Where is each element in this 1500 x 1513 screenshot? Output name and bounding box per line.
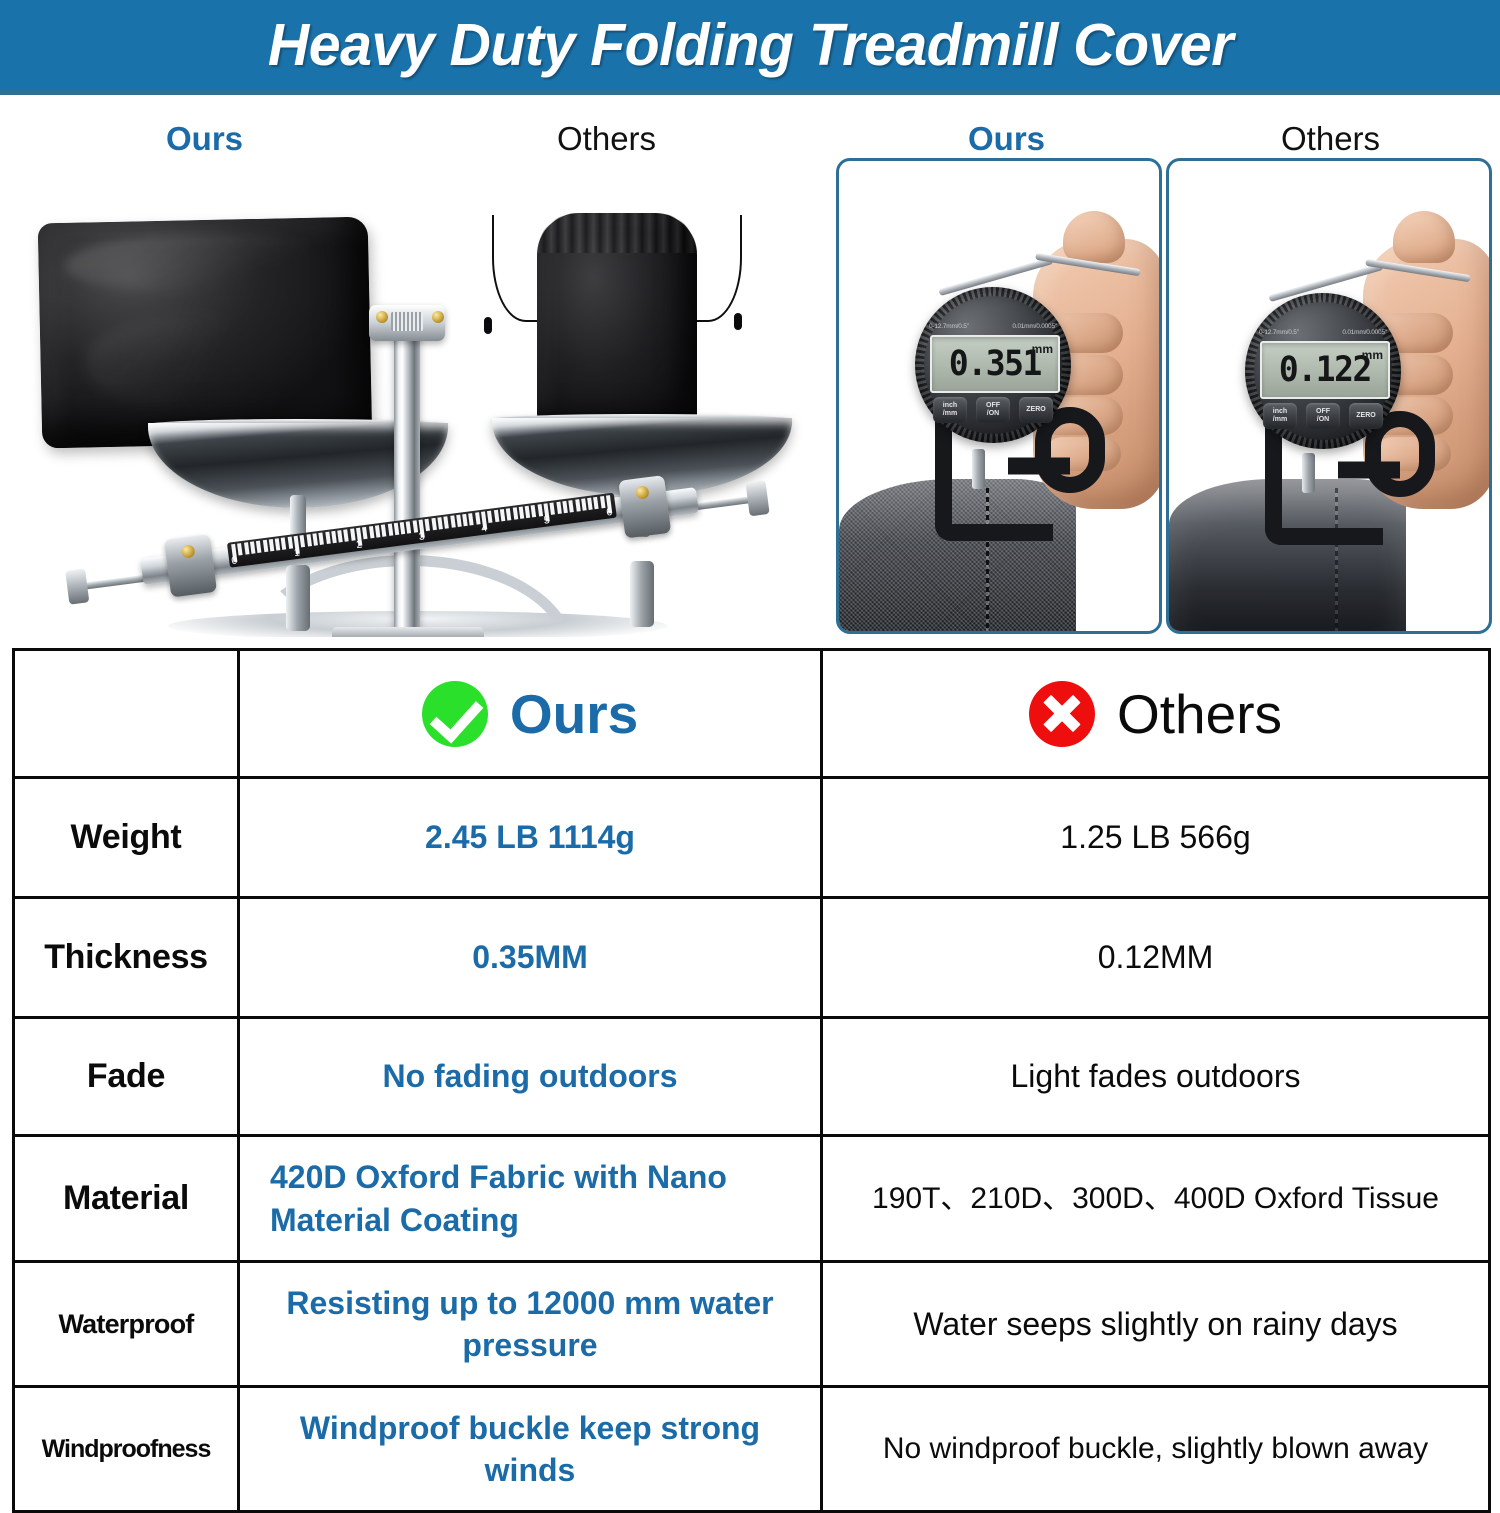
thumb bbox=[1063, 211, 1125, 263]
folded-treadmill-cover-image bbox=[38, 217, 373, 449]
gauge-button-off-on[interactable]: OFF /ON bbox=[976, 397, 1010, 423]
weight-comparison-photo: 0123456 bbox=[18, 165, 818, 637]
ruler-tick bbox=[275, 538, 281, 550]
ruler-tick bbox=[237, 543, 243, 555]
row-ours-weight: 2.45 LB 1114g bbox=[425, 819, 635, 855]
ruler-tick bbox=[306, 534, 312, 546]
pouch-gathered-top bbox=[537, 213, 697, 253]
row-label-windproofness-cell: Windproofness bbox=[14, 1387, 239, 1512]
ruler-tick bbox=[568, 500, 574, 512]
gauge-button-off-on-others-line2: /ON bbox=[1317, 416, 1329, 424]
gauge-button-zero-others-label: ZERO bbox=[1356, 412, 1375, 420]
ruler-tick bbox=[531, 505, 537, 517]
row-others-material-cell: 190T、210D、300D、400D Oxford Tissue bbox=[822, 1136, 1490, 1262]
ruler-tick bbox=[575, 499, 581, 511]
gauge-button-off-on-others-line1: OFF bbox=[1316, 408, 1330, 416]
weight-photo-label-ours: Ours bbox=[166, 120, 243, 158]
ruler-tick bbox=[450, 515, 456, 527]
gauge-button-inch-mm-others[interactable]: inch /mm bbox=[1263, 403, 1297, 429]
row-label-thickness-cell: Thickness bbox=[14, 898, 239, 1018]
gauge-button-inch-mm[interactable]: inch /mm bbox=[933, 397, 967, 423]
ruler-tick bbox=[456, 515, 462, 527]
gauge-measuring-anvil-others bbox=[1302, 453, 1315, 493]
ruler-tick bbox=[537, 504, 543, 516]
weight-photo-label-others: Others bbox=[557, 120, 656, 158]
row-others-fade: Light fades outdoors bbox=[1011, 1058, 1301, 1094]
table-row: Waterproof Resisting up to 12000 mm wate… bbox=[14, 1262, 1490, 1387]
row-others-windproofness-cell: No windproof buckle, slightly blown away bbox=[822, 1387, 1490, 1512]
ruler-tick bbox=[350, 528, 356, 540]
ruler-tick bbox=[262, 540, 268, 552]
ruler-tick bbox=[287, 537, 293, 549]
gauge-lcd-display-others: 0.122 mm bbox=[1260, 341, 1390, 399]
gauge-spec-row-others: 0-12.7mm/0.5" 0.01mm/0.0005" bbox=[1259, 329, 1387, 336]
ruler-tick bbox=[250, 541, 256, 553]
gauge-button-off-on-line1: OFF bbox=[986, 402, 1000, 410]
thickness-photo-label-ours: Ours bbox=[968, 120, 1045, 158]
ruler-tick bbox=[344, 529, 350, 541]
row-ours-material-cell: 420D Oxford Fabric with Nano Material Co… bbox=[239, 1136, 822, 1262]
ruler-tick bbox=[406, 521, 412, 533]
ruler-tick bbox=[412, 520, 418, 532]
ruler-tick bbox=[556, 502, 562, 514]
gauge-button-off-on-line2: /ON bbox=[987, 410, 999, 418]
row-others-thickness-cell: 0.12MM bbox=[822, 898, 1490, 1018]
digital-thickness-gauge-ours: 0-12.7mm/0.5" 0.01mm/0.0005" 0.351 mm in… bbox=[915, 287, 1071, 443]
row-others-weight: 1.25 LB 566g bbox=[1060, 819, 1250, 855]
row-others-thickness: 0.12MM bbox=[1098, 939, 1214, 975]
ruler-tick bbox=[431, 518, 437, 530]
table-header-blank-cell bbox=[14, 650, 239, 778]
ruler-tick bbox=[394, 523, 400, 535]
table-row: Thickness 0.35MM 0.12MM bbox=[14, 898, 1490, 1018]
row-label-weight-cell: Weight bbox=[14, 778, 239, 898]
row-ours-fade: No fading outdoors bbox=[382, 1058, 677, 1094]
gauge-spec-row: 0-12.7mm/0.5" 0.01mm/0.0005" bbox=[929, 323, 1057, 330]
thickness-photo-others: 0-12.7mm/0.5" 0.01mm/0.0005" 0.122 mm in… bbox=[1166, 158, 1492, 634]
gauge-button-zero[interactable]: ZERO bbox=[1019, 397, 1053, 423]
ruler-tick bbox=[475, 512, 481, 524]
gauge-reading-ours: 0.351 bbox=[949, 347, 1041, 382]
row-others-material: 190T、210D、300D、400D Oxford Tissue bbox=[872, 1182, 1439, 1215]
beam-thumb-nut-left bbox=[65, 568, 89, 604]
ruler-tick bbox=[437, 517, 443, 529]
ruler-tick bbox=[400, 522, 406, 534]
drawstring-tip-right bbox=[734, 313, 742, 330]
comparison-table: Ours Others Weight 2.45 LB 1114g 1.25 LB… bbox=[12, 648, 1491, 1513]
row-ours-windproofness: Windproof buckle keep strong winds bbox=[300, 1410, 760, 1488]
row-others-waterproof-cell: Water seeps slightly on rainy days bbox=[822, 1262, 1490, 1387]
ruler-tick bbox=[362, 527, 368, 539]
row-others-waterproof: Water seeps slightly on rainy days bbox=[913, 1306, 1397, 1342]
gauge-unit-ours: mm bbox=[1032, 342, 1053, 356]
row-label-material-cell: Material bbox=[14, 1136, 239, 1262]
table-row: Fade No fading outdoors Light fades outd… bbox=[14, 1018, 1490, 1136]
thickness-photo-ours: 0-12.7mm/0.5" 0.01mm/0.0005" 0.351 mm in… bbox=[836, 158, 1162, 634]
ruler-tick bbox=[281, 537, 287, 549]
ruler-tick bbox=[269, 539, 275, 551]
row-label-waterproof-cell: Waterproof bbox=[14, 1262, 239, 1387]
table-header-ours-label: Ours bbox=[510, 682, 638, 746]
ruler-tick bbox=[500, 509, 506, 521]
row-ours-thickness-cell: 0.35MM bbox=[239, 898, 822, 1018]
table-row: Windproofness Windproof buckle keep stro… bbox=[14, 1387, 1490, 1512]
table-row: Material 420D Oxford Fabric with Nano Ma… bbox=[14, 1136, 1490, 1262]
gauge-spec-range-others: 0-12.7mm/0.5" bbox=[1259, 329, 1299, 336]
beam-knob-screw-right bbox=[635, 485, 650, 500]
ruler-tick bbox=[462, 514, 468, 526]
gauge-button-inch-mm-others-line1: inch bbox=[1273, 408, 1287, 416]
drawstring-tip-left bbox=[484, 317, 492, 334]
ruler-tick bbox=[487, 511, 493, 523]
gauge-unit-others: mm bbox=[1362, 348, 1383, 362]
row-ours-weight-cell: 2.45 LB 1114g bbox=[239, 778, 822, 898]
gauge-spec-resolution-others: 0.01mm/0.0005" bbox=[1342, 329, 1387, 336]
row-ours-thickness: 0.35MM bbox=[472, 939, 588, 975]
ruler-tick bbox=[581, 498, 587, 510]
scale-leg-right bbox=[630, 561, 654, 627]
row-ours-waterproof-cell: Resisting up to 12000 mm water pressure bbox=[239, 1262, 822, 1387]
row-ours-material: 420D Oxford Fabric with Nano Material Co… bbox=[270, 1159, 727, 1237]
row-label-windproofness: Windproofness bbox=[42, 1435, 211, 1463]
table-header-others-label: Others bbox=[1117, 682, 1282, 746]
ruler-tick bbox=[587, 498, 593, 510]
scale-base-foot bbox=[332, 627, 484, 637]
green-check-circle-icon bbox=[422, 681, 488, 747]
ruler-tick bbox=[600, 496, 606, 508]
row-label-waterproof: Waterproof bbox=[59, 1309, 194, 1339]
ruler-tick bbox=[331, 531, 337, 543]
ruler-tick bbox=[381, 524, 387, 536]
row-others-fade-cell: Light fades outdoors bbox=[822, 1018, 1490, 1136]
row-ours-fade-cell: No fading outdoors bbox=[239, 1018, 822, 1136]
ruler-tick bbox=[444, 516, 450, 528]
gauge-button-zero-label: ZERO bbox=[1026, 406, 1045, 414]
ruler-tick bbox=[494, 510, 500, 522]
ruler-tick bbox=[562, 501, 568, 513]
gauge-spec-resolution: 0.01mm/0.0005" bbox=[1012, 323, 1057, 330]
page-header-banner: Heavy Duty Folding Treadmill Cover bbox=[0, 0, 1500, 95]
ruler-tick bbox=[593, 497, 599, 509]
ruler-tick bbox=[550, 502, 556, 514]
table-header-row: Ours Others bbox=[14, 650, 1490, 778]
ruler-tick bbox=[525, 506, 531, 518]
gauge-button-inch-mm-line2: /mm bbox=[943, 410, 957, 418]
ruler-tick bbox=[369, 526, 375, 538]
gauge-reading-others: 0.122 bbox=[1279, 353, 1371, 388]
ruler-tick bbox=[325, 532, 331, 544]
table-row: Weight 2.45 LB 1114g 1.25 LB 566g bbox=[14, 778, 1490, 898]
row-label-fade: Fade bbox=[87, 1057, 165, 1095]
gauge-button-inch-mm-others-line2: /mm bbox=[1273, 416, 1287, 424]
gauge-measuring-anvil bbox=[972, 449, 985, 489]
row-label-material: Material bbox=[63, 1179, 189, 1217]
ruler-tick bbox=[387, 524, 393, 536]
beam-knob-right bbox=[618, 475, 671, 538]
row-ours-waterproof: Resisting up to 12000 mm water pressure bbox=[286, 1285, 773, 1363]
ruler-tick bbox=[469, 513, 475, 525]
scale-leg-left bbox=[286, 565, 310, 631]
row-others-weight-cell: 1.25 LB 566g bbox=[822, 778, 1490, 898]
row-label-thickness: Thickness bbox=[44, 938, 208, 976]
page-title: Heavy Duty Folding Treadmill Cover bbox=[267, 11, 1232, 79]
ruler-tick bbox=[244, 542, 250, 554]
competitor-pouch-image bbox=[537, 213, 697, 428]
row-ours-windproofness-cell: Windproof buckle keep strong winds bbox=[239, 1387, 822, 1512]
table-header-ours-cell: Ours bbox=[239, 650, 822, 778]
thumb-others bbox=[1393, 211, 1455, 263]
ruler-tick bbox=[375, 525, 381, 537]
digital-thickness-gauge-others: 0-12.7mm/0.5" 0.01mm/0.0005" 0.122 mm in… bbox=[1245, 293, 1401, 449]
ruler-tick bbox=[506, 508, 512, 520]
gauge-lcd-display-ours: 0.351 mm bbox=[930, 335, 1060, 393]
red-x-circle-icon bbox=[1029, 681, 1095, 747]
gauge-button-zero-others[interactable]: ZERO bbox=[1349, 403, 1383, 429]
gauge-button-row-ours: inch /mm OFF /ON ZERO bbox=[933, 397, 1053, 423]
ruler-tick bbox=[256, 541, 262, 553]
row-label-fade-cell: Fade bbox=[14, 1018, 239, 1136]
gauge-button-off-on-others[interactable]: OFF /ON bbox=[1306, 403, 1340, 429]
ruler-tick bbox=[512, 507, 518, 519]
beam-thumb-nut-right bbox=[745, 480, 769, 516]
ruler-tick bbox=[319, 532, 325, 544]
gauge-button-row-others: inch /mm OFF /ON ZERO bbox=[1263, 403, 1383, 429]
gauge-button-inch-mm-line1: inch bbox=[943, 402, 957, 410]
gauge-spec-range: 0-12.7mm/0.5" bbox=[929, 323, 969, 330]
ruler-tick bbox=[425, 519, 431, 531]
table-header-others-cell: Others bbox=[822, 650, 1490, 778]
ruler-tick bbox=[337, 530, 343, 542]
beam-knob-screw-left bbox=[181, 544, 196, 559]
thickness-photo-label-others: Others bbox=[1281, 120, 1380, 158]
row-others-windproofness: No windproof buckle, slightly blown away bbox=[883, 1432, 1428, 1465]
post-head-screw-left bbox=[376, 311, 388, 323]
row-label-weight: Weight bbox=[71, 818, 182, 856]
ruler-tick bbox=[300, 535, 306, 547]
beam-knob-left bbox=[164, 534, 217, 597]
ruler-tick bbox=[519, 507, 525, 519]
ruler-tick bbox=[312, 533, 318, 545]
post-head-screw-right bbox=[432, 311, 444, 323]
